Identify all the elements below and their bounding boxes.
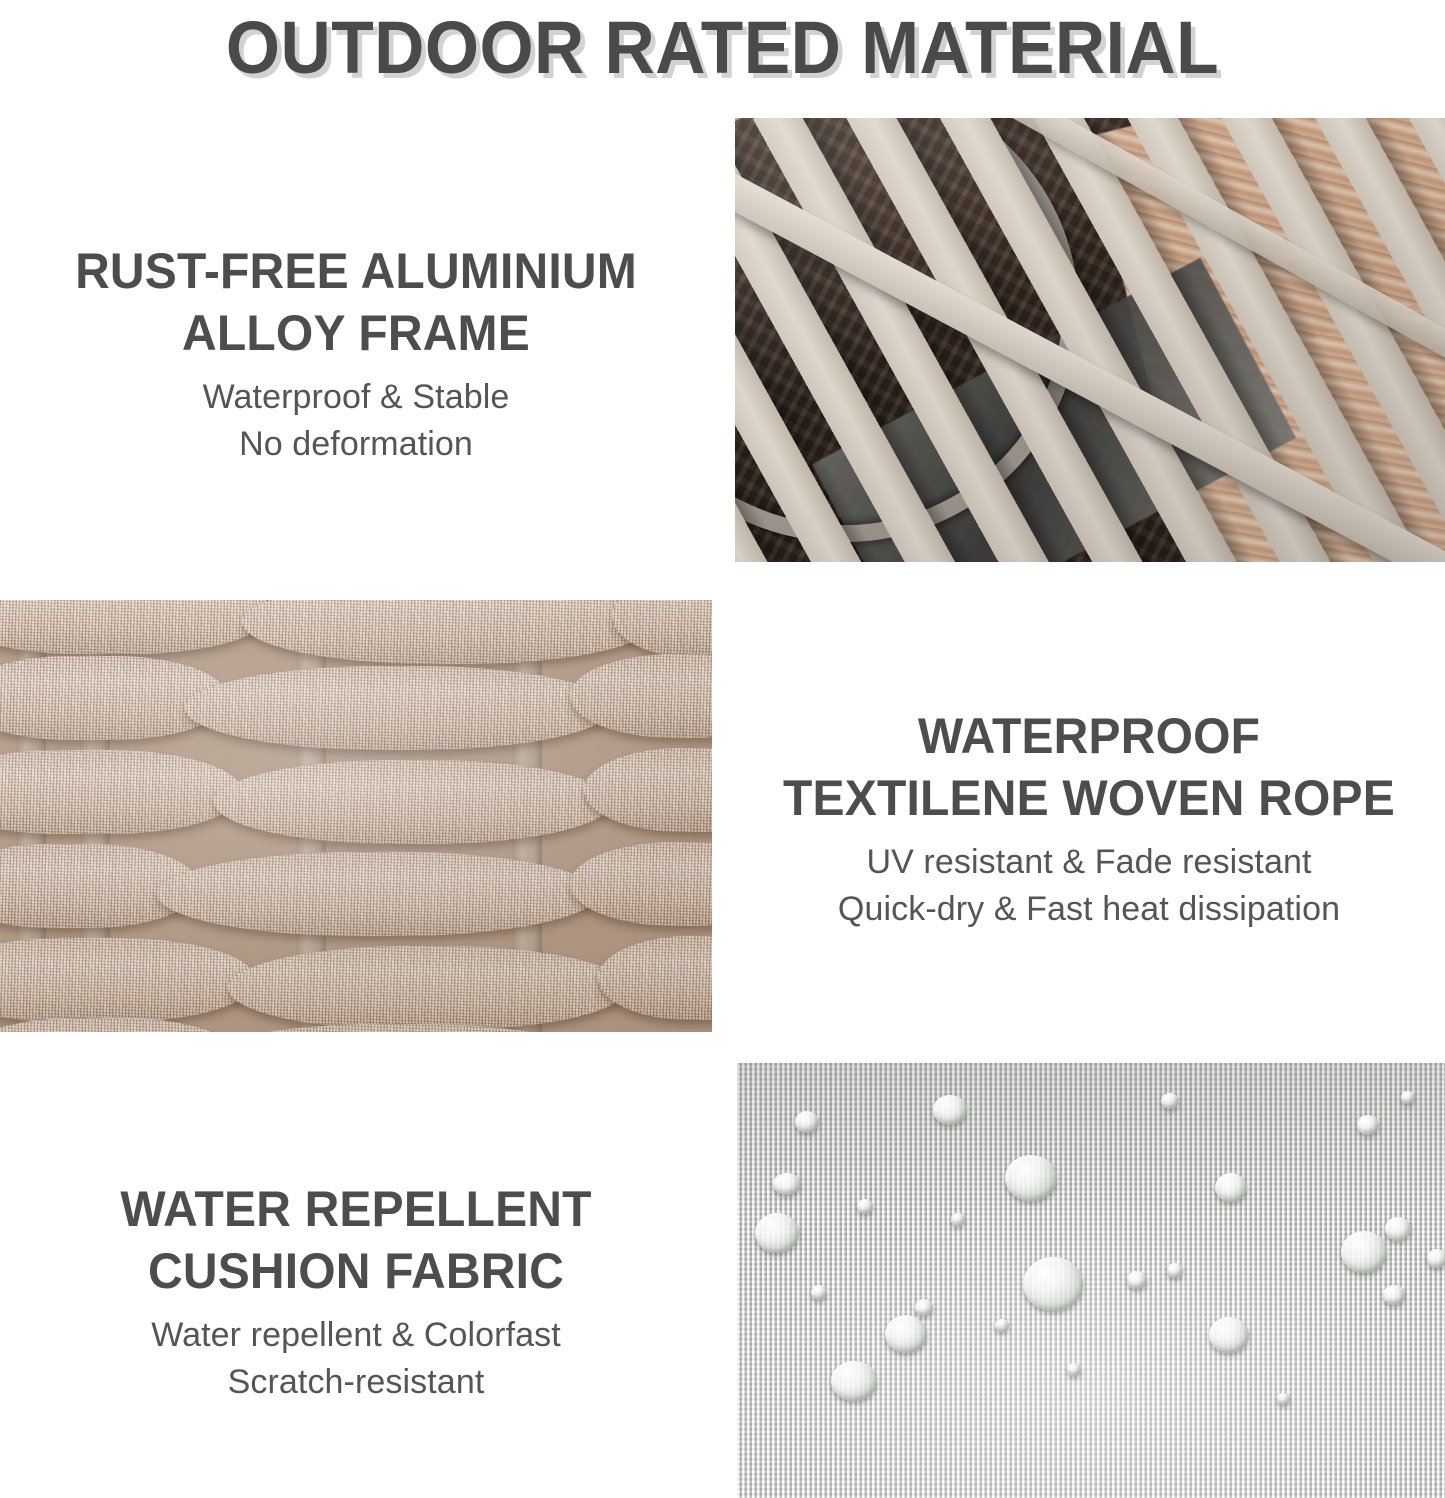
water-droplet xyxy=(1341,1231,1387,1273)
water-droplet xyxy=(1401,1091,1415,1104)
water-droplet xyxy=(1209,1317,1249,1353)
aluminium-slat-frame-photo xyxy=(735,118,1445,562)
water-droplet xyxy=(1023,1257,1083,1311)
water-droplet xyxy=(951,1213,965,1226)
textilene-woven-rope-photo xyxy=(0,600,712,1032)
water-droplet xyxy=(1127,1271,1147,1289)
feature-sub-aluminium-line2: No deformation xyxy=(0,421,712,468)
feature-heading-aluminium-line2: ALLOY FRAME xyxy=(14,302,698,364)
water-droplet xyxy=(995,1319,1009,1332)
water-droplet xyxy=(795,1111,819,1133)
photo-lighting-vignette xyxy=(737,1063,1445,1498)
feature-sub-fabric-line2: Scratch-resistant xyxy=(0,1359,712,1406)
water-droplet xyxy=(857,1199,873,1214)
water-droplet xyxy=(1161,1093,1179,1109)
water-droplet xyxy=(1427,1249,1445,1268)
feature-heading-aluminium-line1: RUST-FREE ALUMINIUM xyxy=(14,240,698,302)
water-droplet xyxy=(773,1173,801,1195)
feature-heading-rope-line2: TEXTILENE WOVEN ROPE xyxy=(747,767,1431,829)
water-droplet xyxy=(1215,1173,1247,1202)
feature-sub-aluminium-line1: Waterproof & Stable xyxy=(0,374,712,421)
water-droplet xyxy=(1167,1263,1183,1278)
feature-sub-fabric-line1: Water repellent & Colorfast xyxy=(0,1312,712,1359)
water-droplet xyxy=(915,1299,933,1316)
water-droplet xyxy=(1383,1285,1405,1305)
water-droplet xyxy=(755,1213,799,1253)
water-droplet xyxy=(885,1315,927,1353)
water-droplet xyxy=(1277,1393,1290,1405)
water-repellent-fabric-photo xyxy=(737,1063,1445,1498)
water-droplet xyxy=(933,1095,967,1125)
feature-block-aluminium-frame: RUST-FREE ALUMINIUM ALLOY FRAME Waterpro… xyxy=(0,240,712,468)
feature-block-textilene-rope: WATERPROOF TEXTILENE WOVEN ROPE UV resis… xyxy=(733,705,1445,933)
water-droplet xyxy=(831,1361,877,1401)
feature-sub-rope-line1: UV resistant & Fade resistant xyxy=(733,839,1445,886)
weave-lighting-sheen xyxy=(0,600,712,1032)
water-droplet xyxy=(1385,1217,1411,1241)
water-droplet xyxy=(1067,1363,1081,1376)
page-title: OUTDOOR RATED MATERIAL xyxy=(43,0,1401,96)
feature-sub-rope-line2: Quick-dry & Fast heat dissipation xyxy=(733,886,1445,933)
water-droplet xyxy=(811,1285,827,1300)
water-droplet xyxy=(1357,1115,1379,1135)
feature-heading-rope-line1: WATERPROOF xyxy=(747,705,1431,767)
feature-heading-fabric-line1: WATER REPELLENT xyxy=(14,1178,698,1240)
photo-lighting-sheen xyxy=(735,118,1445,562)
feature-heading-fabric-line2: CUSHION FABRIC xyxy=(14,1240,698,1302)
water-droplet xyxy=(1005,1155,1057,1201)
feature-block-cushion-fabric: WATER REPELLENT CUSHION FABRIC Water rep… xyxy=(0,1178,712,1406)
